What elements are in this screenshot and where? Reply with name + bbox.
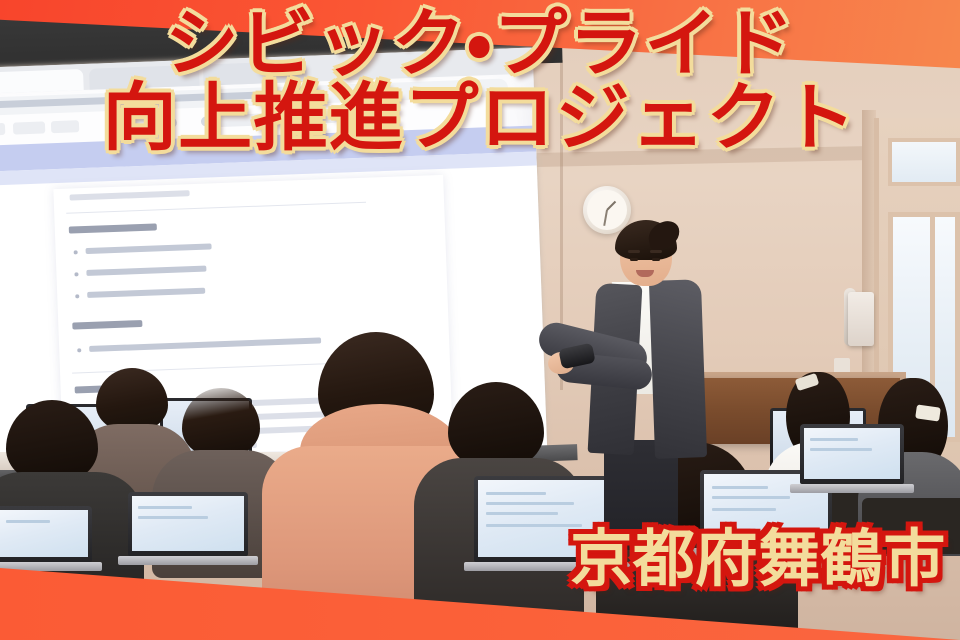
doc-bullet bbox=[74, 250, 78, 254]
bookmark-item bbox=[13, 121, 45, 134]
presenter-eye bbox=[652, 258, 660, 261]
seminar-photo bbox=[0, 0, 960, 640]
doc-text-line bbox=[89, 337, 321, 351]
laptop[interactable] bbox=[800, 424, 904, 484]
doc-heading bbox=[72, 320, 142, 330]
doc-bullet bbox=[75, 294, 79, 298]
browser-tab bbox=[203, 61, 308, 86]
laptop-base bbox=[464, 562, 632, 571]
doc-bullet bbox=[74, 272, 78, 276]
doc-text-line bbox=[87, 288, 205, 298]
laptop-base bbox=[690, 548, 842, 557]
bookmark-favicon bbox=[105, 120, 115, 130]
browser-tab bbox=[89, 65, 200, 90]
laptop-screen bbox=[804, 428, 900, 479]
presenter-brow bbox=[650, 250, 662, 253]
clock-face bbox=[587, 190, 627, 230]
bookmark-item bbox=[291, 111, 337, 125]
bookmark-favicon bbox=[201, 116, 211, 126]
doc-heading bbox=[69, 223, 157, 233]
laptop-screen bbox=[478, 480, 618, 557]
laptop-base bbox=[118, 556, 258, 565]
bookmark-item bbox=[0, 123, 5, 136]
laptop[interactable] bbox=[474, 476, 622, 562]
doc-text-line bbox=[86, 243, 212, 254]
browser-tab bbox=[0, 69, 84, 94]
wall-telephone bbox=[848, 292, 874, 346]
doc-bullet bbox=[77, 348, 81, 352]
doc-divider bbox=[66, 202, 366, 214]
doc-text-line bbox=[70, 190, 190, 200]
chair-back bbox=[862, 498, 960, 554]
door-transom-glass bbox=[888, 138, 960, 186]
bookmark-item bbox=[119, 117, 159, 130]
bookmark-favicon bbox=[167, 118, 177, 128]
laptop-base bbox=[790, 484, 914, 493]
presenter-eye bbox=[630, 258, 638, 261]
laptop-screen bbox=[132, 496, 244, 551]
presenter-brow bbox=[628, 250, 640, 253]
civic-pride-banner: シビック・プライド 向上推進プロジェクト 京都府舞鶴市 bbox=[0, 0, 960, 640]
bookmark-item bbox=[51, 120, 79, 133]
laptop-screen bbox=[0, 510, 88, 557]
bookmark-item bbox=[217, 113, 267, 127]
bookmark-favicon bbox=[277, 114, 287, 124]
laptop[interactable] bbox=[0, 506, 92, 562]
presenter-jacket-right bbox=[649, 279, 707, 459]
laptop[interactable] bbox=[128, 492, 248, 556]
doc-text-line bbox=[86, 266, 206, 276]
clock-minute-hand bbox=[603, 210, 608, 226]
